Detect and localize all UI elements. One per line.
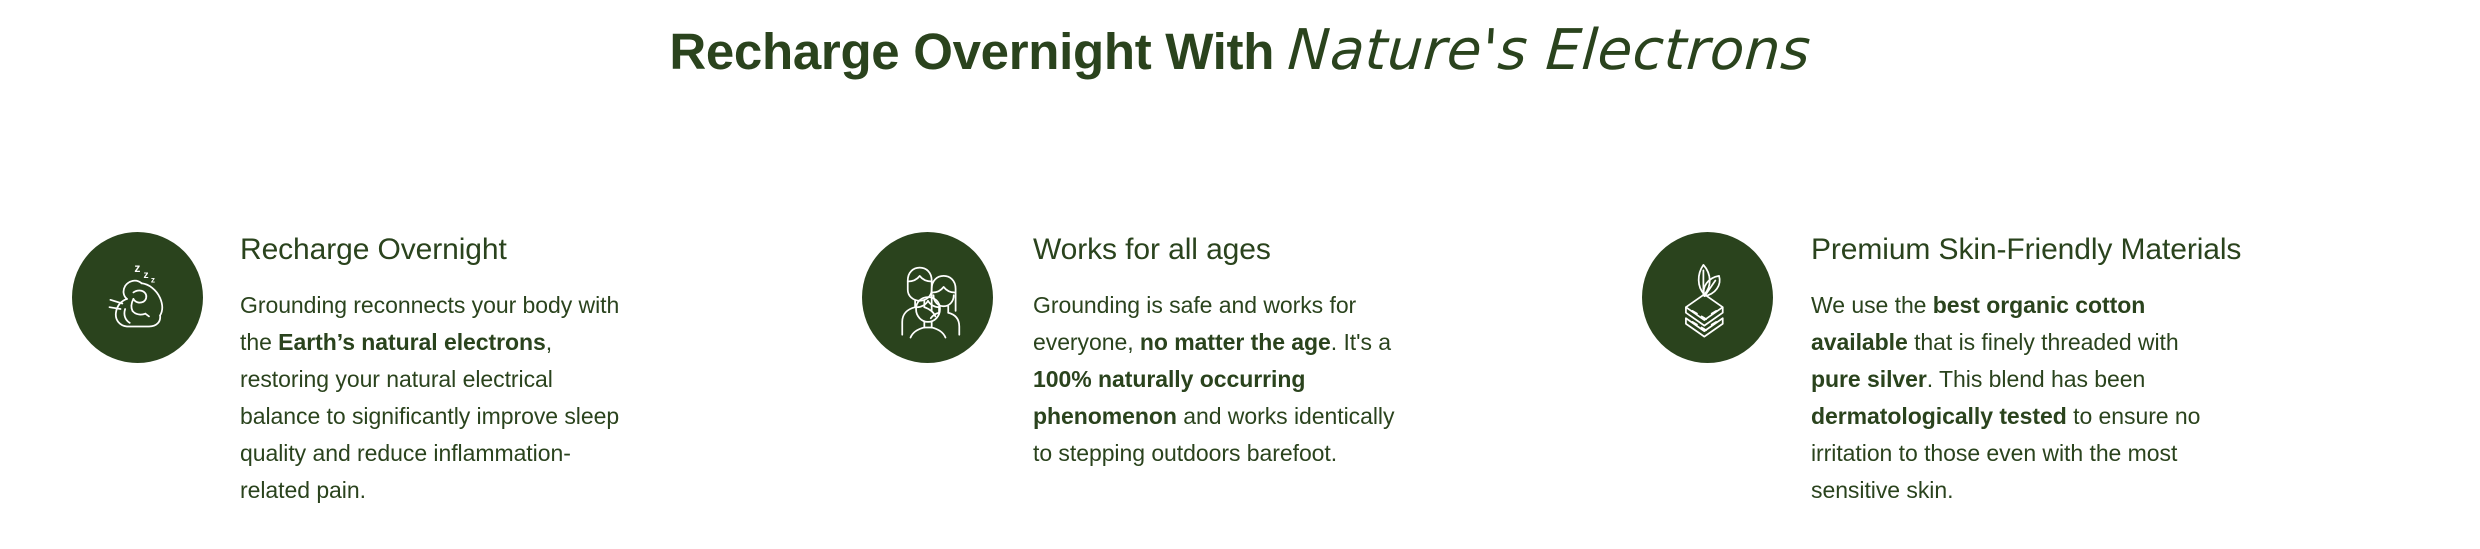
section-heading-main: Recharge Overnight With <box>669 23 1274 80</box>
feature-column-works-for-all-ages: Works for all ages Grounding is safe and… <box>800 230 1590 472</box>
section-heading: Recharge Overnight WithNature's Electron… <box>0 18 2480 83</box>
feature-body: Grounding is safe and works for everyone… <box>1033 287 1413 472</box>
body-text: , restoring your natural electrical bala… <box>240 329 619 503</box>
sleeping-person-zzz-icon: z z z <box>72 232 203 363</box>
feature-text-block: Recharge Overnight Grounding reconnects … <box>203 230 630 509</box>
body-text: . It's a <box>1331 329 1391 355</box>
feature-title: Premium Skin-Friendly Materials <box>1811 232 2241 268</box>
emphasis-text: no matter the age <box>1140 329 1331 355</box>
layered-fabric-leaves-icon <box>1642 232 1773 363</box>
feature-body: Grounding reconnects your body with the … <box>240 287 630 509</box>
svg-text:z: z <box>150 275 154 284</box>
svg-text:z: z <box>134 261 140 275</box>
feature-text-block: Premium Skin-Friendly Materials We use t… <box>1773 230 2241 509</box>
feature-text-block: Works for all ages Grounding is safe and… <box>993 230 1413 472</box>
benefits-section: Recharge Overnight WithNature's Electron… <box>0 0 2480 549</box>
svg-text:z: z <box>143 269 148 280</box>
emphasis-text: Earth’s natural electrons <box>278 329 546 355</box>
body-text: We use the <box>1811 292 1933 318</box>
body-text: that is finely threaded with <box>1908 329 2179 355</box>
feature-title: Recharge Overnight <box>240 232 630 268</box>
emphasis-text: pure silver <box>1811 366 1927 392</box>
body-text: . This blend has been <box>1927 366 2145 392</box>
emphasis-text: dermatologically tested <box>1811 403 2067 429</box>
feature-column-recharge-overnight: z z z Recharge Overnight Grounding recon… <box>0 230 800 509</box>
feature-column-premium-materials: Premium Skin-Friendly Materials We use t… <box>1590 230 2420 509</box>
family-group-people-icon <box>862 232 993 363</box>
section-heading-script: Nature's Electrons <box>1272 18 1813 83</box>
feature-title: Works for all ages <box>1033 232 1413 268</box>
feature-columns: z z z Recharge Overnight Grounding recon… <box>0 230 2480 509</box>
feature-body: We use the best organic cotton available… <box>1811 287 2201 509</box>
